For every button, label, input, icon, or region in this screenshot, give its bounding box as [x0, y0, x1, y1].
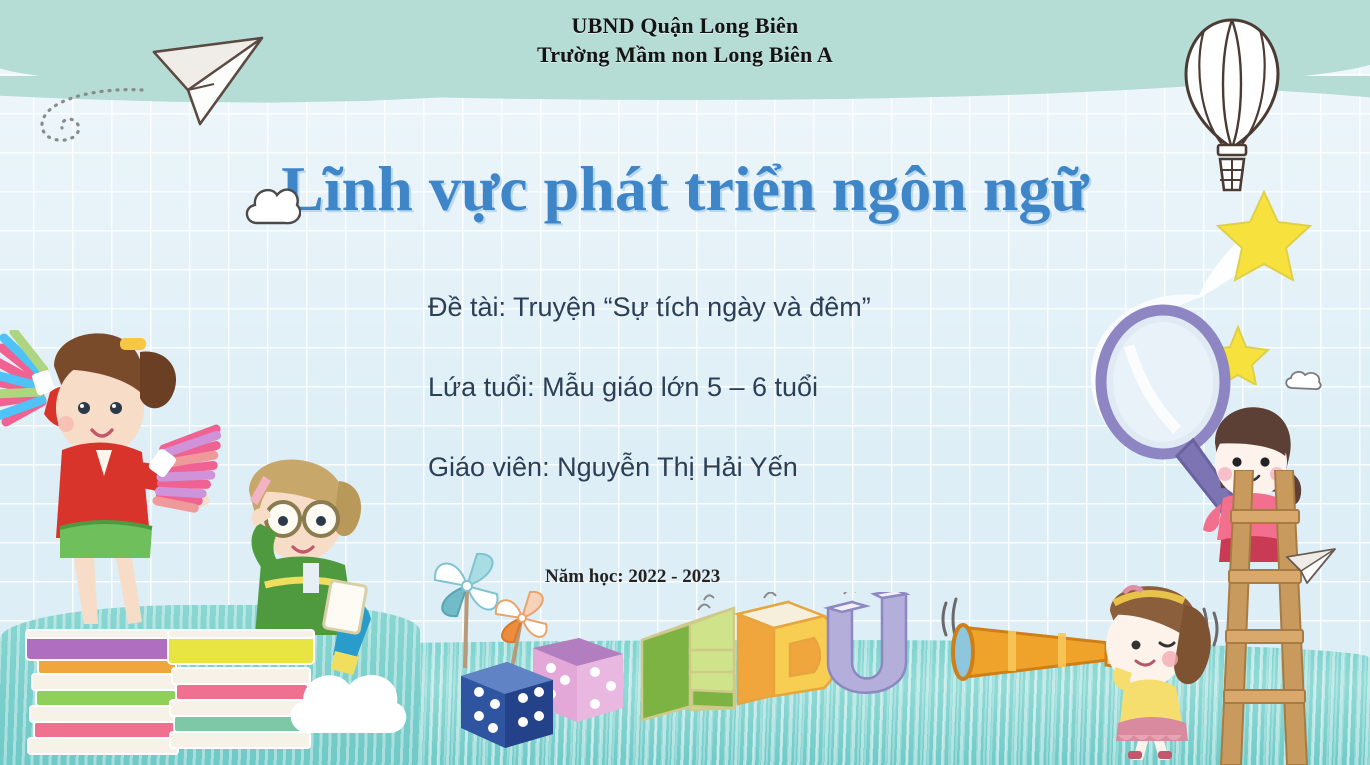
presentation-slide: UBND Quận Long Biên Trường Mầm non Long …: [0, 0, 1370, 765]
book-stack-icon: [20, 600, 320, 765]
dice-icon: [455, 630, 635, 750]
page-title: Lĩnh vực phát triển ngôn ngữ: [0, 150, 1370, 228]
ladder-icon: [1215, 470, 1325, 765]
cloud-icon: [283, 645, 413, 740]
info-block: Đề tài: Truyện “Sự tích ngày và đêm” Lứa…: [428, 290, 1068, 530]
info-line-age: Lứa tuổi: Mẫu giáo lớn 5 – 6 tuổi: [428, 370, 1068, 404]
title-cloud-icon: [243, 175, 301, 233]
school-header-line1: UBND Quận Long Biên: [0, 11, 1370, 40]
info-line-teacher: Giáo viên: Nguyễn Thị Hải Yến: [428, 450, 1068, 484]
edu-letters-icon: [638, 592, 910, 722]
girl-with-telescope-icon: [938, 585, 1228, 760]
cloud-doodle-icon: [1283, 368, 1325, 394]
dotted-swirl-icon: [32, 86, 152, 146]
school-header: UBND Quận Long Biên Trường Mầm non Long …: [0, 11, 1370, 69]
mini-paper-plane-icon: [1285, 545, 1337, 585]
school-header-line2: Trường Mầm non Long Biên A: [0, 40, 1370, 69]
school-year-label: Năm học: 2022 - 2023: [545, 566, 720, 588]
info-line-topic: Đề tài: Truyện “Sự tích ngày và đêm”: [428, 290, 1068, 324]
